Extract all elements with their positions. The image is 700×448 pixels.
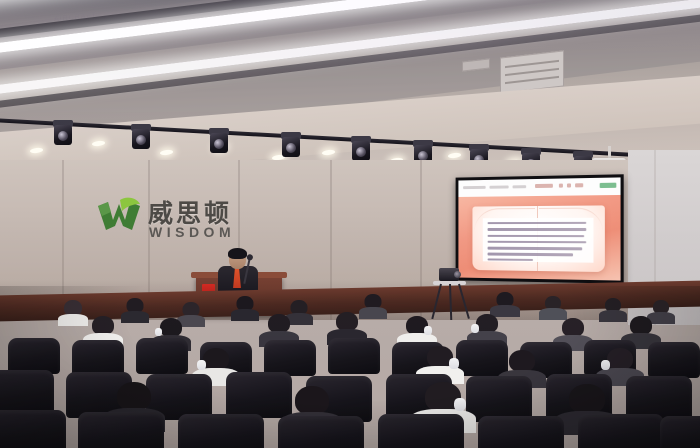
audience-seating bbox=[0, 286, 700, 448]
auditorium-seat bbox=[72, 340, 124, 376]
face-mask bbox=[454, 398, 466, 411]
attendee bbox=[122, 298, 148, 320]
auditorium-seat bbox=[136, 338, 188, 374]
attendee bbox=[60, 300, 86, 322]
auditorium-seat bbox=[328, 338, 380, 374]
face-mask bbox=[424, 326, 432, 335]
auditorium-seat bbox=[578, 414, 664, 448]
company-logo: 威思顿 WISDOM bbox=[96, 192, 246, 248]
stage-light-icon bbox=[280, 132, 302, 162]
attendee bbox=[600, 298, 626, 320]
stage-light-icon bbox=[52, 120, 74, 150]
auditorium-seat bbox=[660, 416, 700, 448]
auditorium-seat bbox=[8, 338, 60, 374]
camera-lens-icon bbox=[454, 271, 461, 278]
auditorium-seat bbox=[178, 414, 264, 448]
slide-brand-accent bbox=[600, 183, 617, 188]
auditorium-seat bbox=[226, 372, 292, 418]
slide-body bbox=[458, 195, 620, 281]
attendee bbox=[540, 296, 566, 318]
auditorium-seat bbox=[78, 412, 164, 448]
slide-text-block bbox=[483, 217, 593, 263]
stage-light-icon bbox=[130, 124, 152, 154]
wisdom-logo-mark-icon bbox=[96, 196, 142, 238]
slide bbox=[458, 177, 620, 280]
logo-english-name: WISDOM bbox=[149, 224, 235, 240]
conference-hall-photo: AIRCRAFT PROJECTOR bbox=[0, 0, 700, 448]
auditorium-seat bbox=[648, 342, 700, 378]
stage-light-icon bbox=[208, 128, 230, 158]
face-mask bbox=[197, 360, 206, 370]
auditorium-seat bbox=[456, 340, 508, 376]
projection-screen bbox=[456, 174, 624, 283]
auditorium-seat bbox=[278, 416, 364, 448]
attendee bbox=[492, 292, 518, 314]
face-mask bbox=[601, 360, 610, 370]
attendee bbox=[232, 296, 258, 318]
face-mask bbox=[471, 324, 479, 333]
auditorium-seat bbox=[478, 416, 564, 448]
auditorium-seat bbox=[378, 414, 464, 448]
face-mask bbox=[449, 358, 459, 369]
auditorium-seat bbox=[0, 410, 66, 448]
auditorium-seat bbox=[264, 340, 316, 376]
face-mask bbox=[155, 328, 162, 336]
